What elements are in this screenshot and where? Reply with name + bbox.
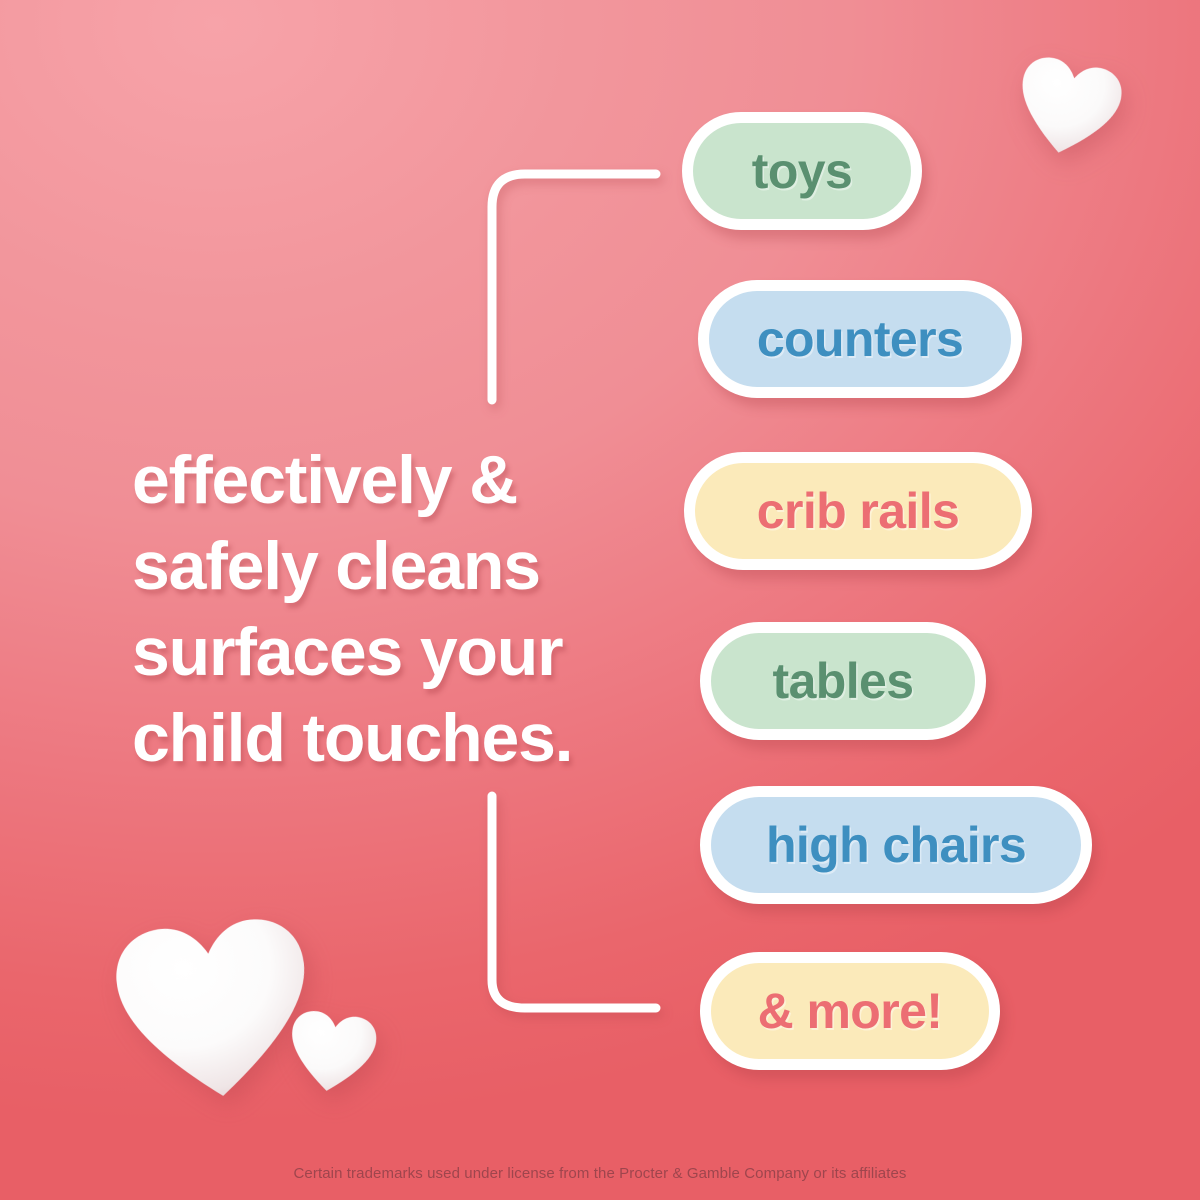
surface-pill-label: counters: [757, 314, 963, 364]
bracket-bottom-icon: [480, 790, 665, 1020]
heart-icon: [1007, 50, 1129, 165]
surface-pill-high-chairs[interactable]: high chairs: [700, 786, 1092, 904]
surface-pill-tables[interactable]: tables: [700, 622, 986, 740]
heart-bottom-small: [283, 1006, 381, 1097]
bracket-top-icon: [480, 160, 665, 405]
surface-pill-label: toys: [752, 146, 852, 196]
surface-pill-counters[interactable]: counters: [698, 280, 1022, 398]
surface-pill-and-more[interactable]: & more!: [700, 952, 1000, 1070]
headline-line-3: surfaces your: [132, 609, 662, 695]
trademark-disclaimer: Certain trademarks used under license fr…: [0, 1165, 1200, 1182]
surface-pill-toys[interactable]: toys: [682, 112, 922, 230]
surface-pill-label: crib rails: [757, 486, 959, 536]
headline-line-2: safely cleans: [132, 523, 662, 609]
surface-pill-crib-rails[interactable]: crib rails: [684, 452, 1032, 570]
page-headline: effectively & safely cleans surfaces you…: [132, 437, 662, 781]
surface-pill-label: tables: [773, 656, 914, 706]
heart-top-right: [1007, 50, 1129, 166]
surface-pill-label: & more!: [758, 986, 943, 1036]
promo-canvas: effectively & safely cleans surfaces you…: [0, 0, 1200, 1200]
heart-icon: [283, 1006, 381, 1098]
surface-pill-label: high chairs: [766, 820, 1026, 870]
headline-line-4: child touches.: [132, 695, 662, 781]
headline-line-1: effectively &: [132, 437, 662, 523]
